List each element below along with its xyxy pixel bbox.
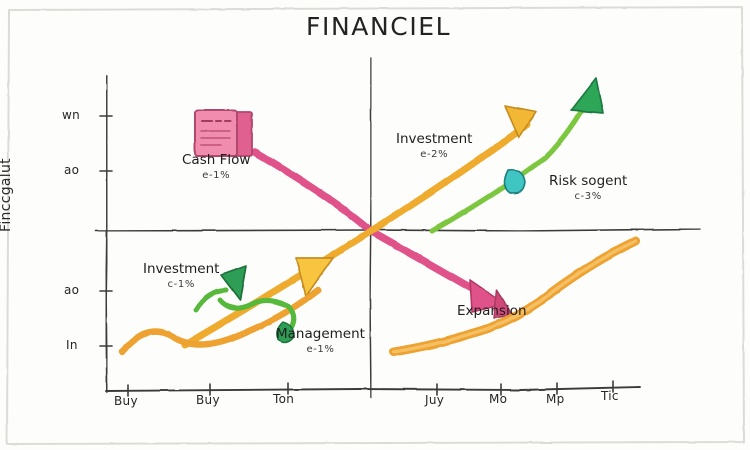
annotation-risk-sogent-name: Risk sogent	[549, 173, 627, 189]
annotation-management: Management e-1%	[276, 326, 365, 355]
annotation-management-sub: e-1%	[276, 344, 365, 355]
chart-canvas: FINANCIEL Finccgalut wn ao ao In Buy Buy…	[0, 0, 750, 450]
series-expansion-curve	[394, 241, 636, 352]
x-tick-label-4: Mo	[489, 392, 507, 406]
x-tick-label-0: Buy	[114, 394, 138, 408]
annotation-management-name: Management	[276, 326, 365, 342]
annotation-investment-upper: Investment e-2%	[396, 131, 472, 160]
y-tick-label-2: ao	[64, 283, 79, 297]
risk-marker-icon	[504, 170, 525, 194]
y-axis-line	[106, 76, 107, 392]
y-tick-label-0: wn	[62, 108, 80, 122]
x-tick-label-2: Ton	[273, 392, 294, 406]
y-axis-title: Finccgalut	[0, 158, 14, 232]
annotation-cash-flow-name: Cash Flow	[182, 152, 250, 168]
x-tick-label-6: Tic	[601, 389, 619, 403]
y-tick-label-3: In	[66, 338, 78, 352]
x-tick-label-3: Juy	[425, 393, 444, 407]
x-tick-label-5: Mp	[546, 392, 565, 406]
x-tick-label-1: Buy	[196, 393, 220, 407]
x-axis-line	[106, 387, 640, 391]
annotation-expansion-name: Expansion	[457, 303, 527, 319]
y-tick-label-1: ao	[64, 163, 79, 177]
document-card-icon	[195, 110, 252, 156]
annotation-investment-lower-name: Investment	[143, 261, 219, 277]
series-cash-flow	[255, 152, 512, 318]
chart-sketch	[0, 0, 750, 450]
annotation-investment-upper-name: Investment	[396, 131, 472, 147]
annotation-investment-lower: Investment c-1%	[143, 261, 219, 290]
annotation-investment-upper-sub: e-2%	[396, 149, 472, 160]
zero-line	[96, 229, 700, 231]
annotation-risk-sogent: Risk sogent c-3%	[549, 173, 627, 202]
annotation-risk-sogent-sub: c-3%	[549, 191, 627, 202]
page-title: FINANCIEL	[306, 12, 451, 41]
annotation-expansion: Expansion	[457, 303, 527, 321]
annotation-investment-lower-sub: c-1%	[143, 279, 219, 290]
annotation-cash-flow: Cash Flow e-1%	[182, 152, 250, 181]
annotation-cash-flow-sub: e-1%	[182, 170, 250, 181]
